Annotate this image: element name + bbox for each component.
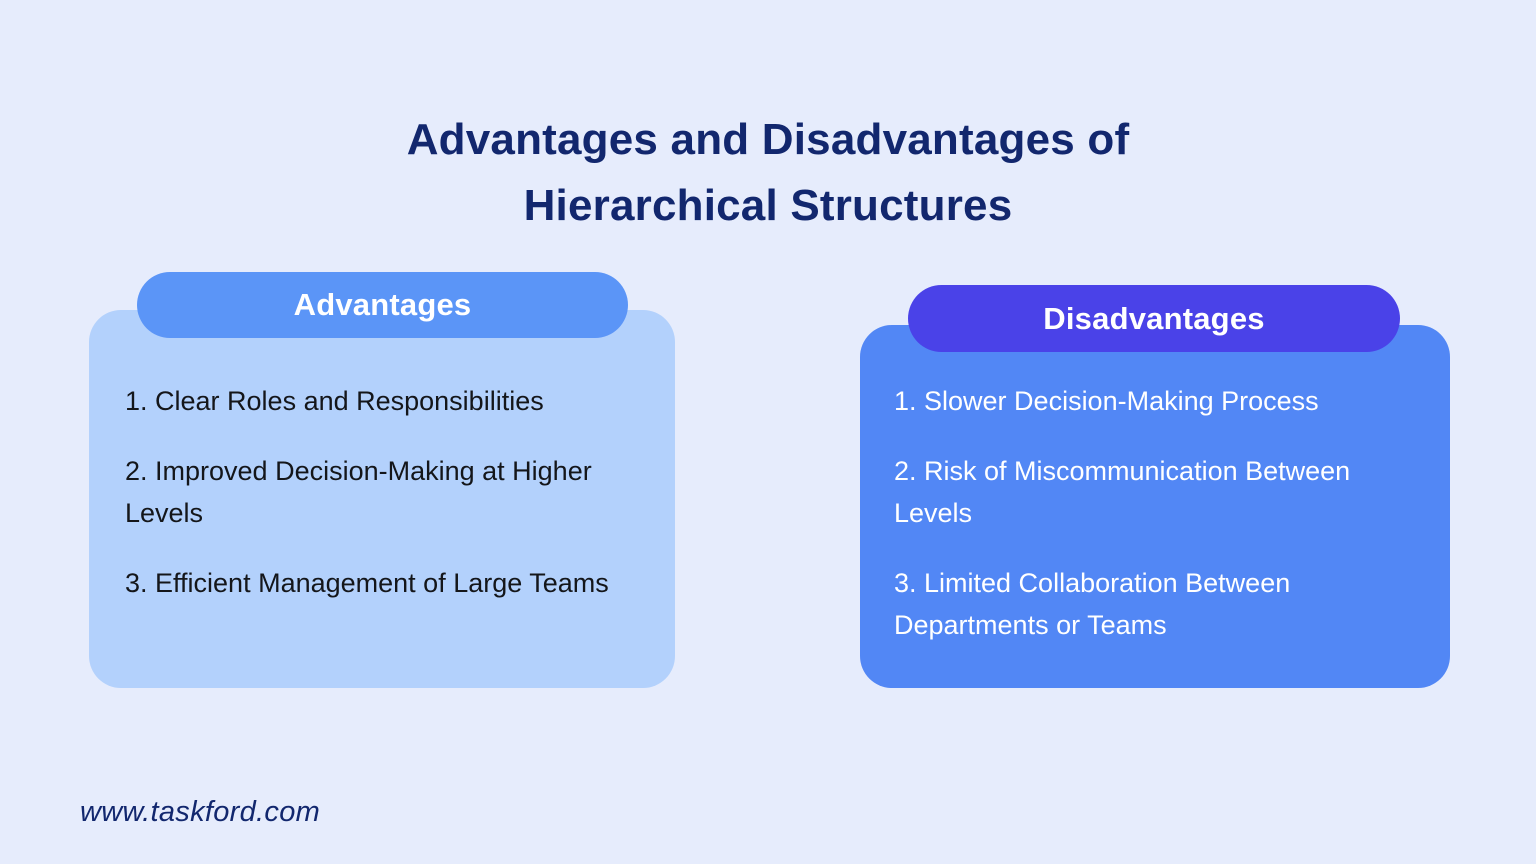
list-item: 1. Clear Roles and Responsibilities: [125, 380, 635, 422]
advantages-list: 1. Clear Roles and Responsibilities 2. I…: [125, 380, 635, 604]
advantages-heading-pill: Advantages: [137, 272, 628, 338]
list-item: 2. Improved Decision-Making at Higher Le…: [125, 450, 635, 534]
list-item: 3. Limited Collaboration Between Departm…: [894, 562, 1414, 646]
list-item: 2. Risk of Miscommunication Between Leve…: [894, 450, 1414, 534]
disadvantages-list: 1. Slower Decision-Making Process 2. Ris…: [894, 380, 1414, 646]
list-item: 3. Efficient Management of Large Teams: [125, 562, 635, 604]
advantages-heading-label: Advantages: [294, 287, 472, 323]
list-item: 1. Slower Decision-Making Process: [894, 380, 1414, 422]
footer-website-url: www.taskford.com: [80, 796, 320, 829]
disadvantages-heading-label: Disadvantages: [1043, 301, 1264, 337]
disadvantages-heading-pill: Disadvantages: [908, 285, 1400, 352]
comparison-columns: Advantages 1. Clear Roles and Responsibi…: [0, 0, 1536, 864]
